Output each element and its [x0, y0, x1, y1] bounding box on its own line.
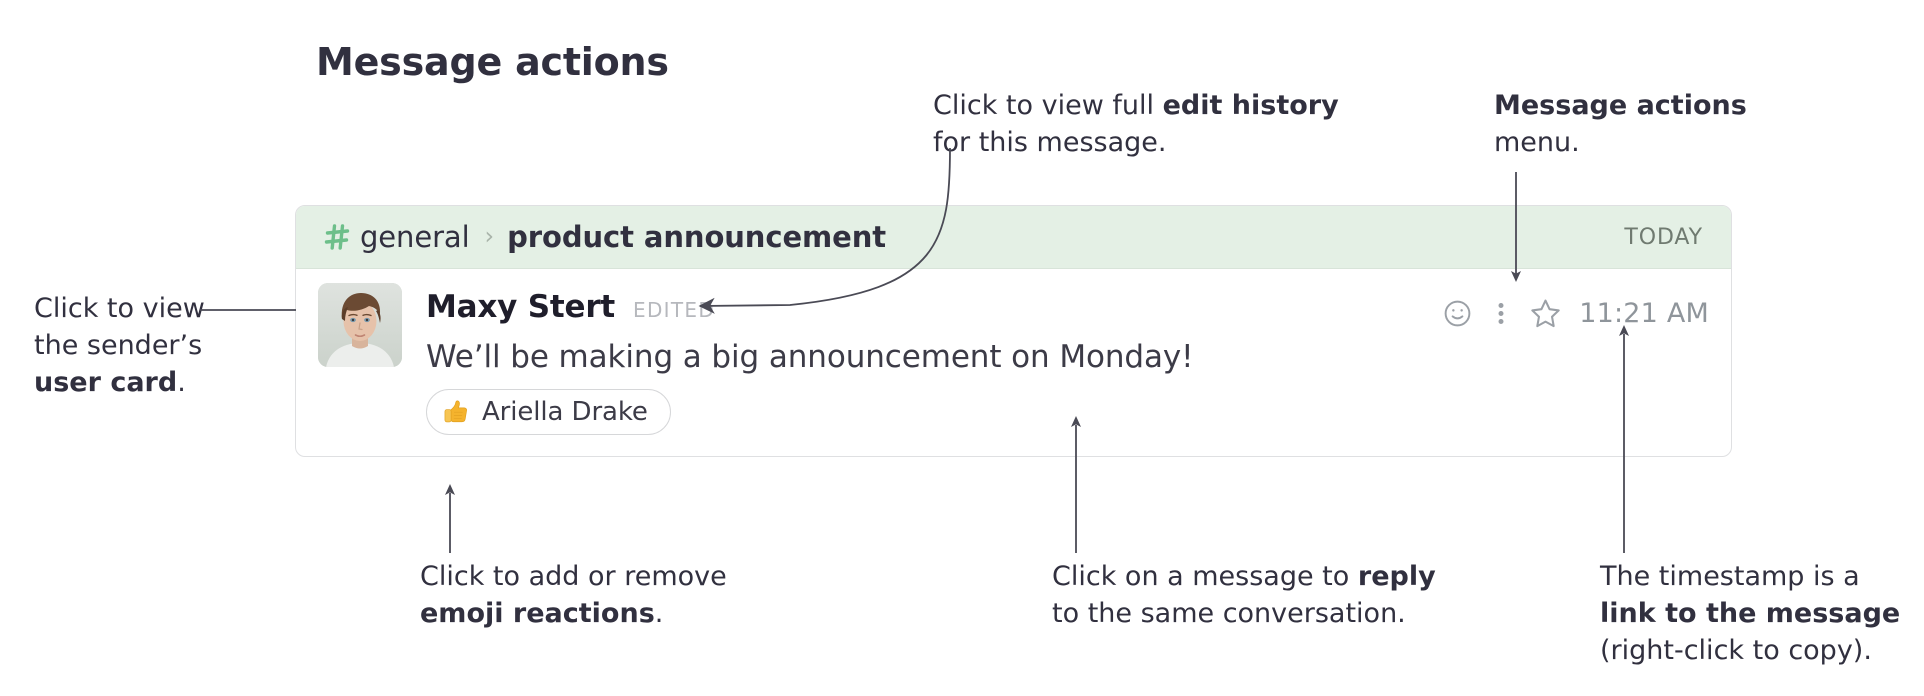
- message-card: general › product announcement TODAY: [295, 205, 1732, 457]
- reaction-pill[interactable]: Ariella Drake: [426, 389, 671, 435]
- message-actions-menu-icon[interactable]: [1479, 293, 1523, 333]
- avatar[interactable]: [318, 283, 402, 367]
- date-label: TODAY: [1624, 225, 1703, 250]
- annotation-edit-history-line1-bold: edit history: [1163, 90, 1339, 121]
- channel-breadcrumb-bar: general › product announcement TODAY: [296, 206, 1731, 269]
- reaction-user-name: Ariella Drake: [482, 397, 648, 427]
- annotation-user-card-bold: user card: [34, 367, 177, 398]
- message-actions-group: 11:21 AM: [1435, 293, 1709, 333]
- connector-emoji-arrowhead: [445, 484, 455, 495]
- annotation-timestamp-line3: (right-click to copy).: [1600, 635, 1872, 666]
- annotation-reply-line1-bold: reply: [1358, 561, 1436, 592]
- sender-name[interactable]: Maxy Stert: [426, 289, 615, 325]
- annotation-edit-history-line1-plain: Click to view full: [933, 90, 1163, 121]
- annotation-user-card-line2: the sender’s: [34, 330, 202, 361]
- annotation-reply-line2: to the same conversation.: [1052, 598, 1406, 629]
- message-body-region[interactable]: Maxy Stert EDITED We’ll be making a big …: [296, 269, 1731, 435]
- annotation-reply-line1-plain: Click on a message to: [1052, 561, 1358, 592]
- annotation-edit-history: Click to view full edit history for this…: [933, 87, 1363, 161]
- annotation-timestamp-line1: The timestamp is a: [1600, 561, 1860, 592]
- reactions-row: Ariella Drake: [426, 389, 1703, 435]
- annotation-user-card-line1: Click to view: [34, 293, 205, 324]
- emoji-reaction-icon[interactable]: [1435, 293, 1479, 333]
- thumbs-up-emoji: [441, 397, 471, 427]
- star-icon[interactable]: [1523, 293, 1567, 333]
- message-timestamp-link[interactable]: 11:21 AM: [1579, 298, 1709, 329]
- chevron-right-icon: ›: [485, 224, 495, 248]
- annotation-actions-menu-plain: menu.: [1494, 127, 1580, 158]
- annotation-emoji-bold: emoji reactions: [420, 598, 655, 629]
- annotation-emoji-reactions: Click to add or remove emoji reactions.: [420, 558, 780, 632]
- page-title: Message actions: [316, 40, 669, 84]
- annotation-emoji-line1: Click to add or remove: [420, 561, 727, 592]
- annotation-user-card: Click to view the sender’s user card.: [34, 290, 264, 401]
- annotation-timestamp: The timestamp is a link to the message (…: [1600, 558, 1920, 669]
- edited-badge[interactable]: EDITED: [633, 298, 715, 322]
- annotation-timestamp-bold: link to the message: [1600, 598, 1900, 629]
- annotation-actions-menu-bold: Message actions: [1494, 90, 1747, 121]
- annotation-emoji-period: .: [655, 598, 664, 629]
- message-text[interactable]: We’ll be making a big announcement on Mo…: [426, 337, 1703, 377]
- annotation-edit-history-line2: for this message.: [933, 127, 1166, 158]
- hash-icon: [322, 222, 352, 252]
- breadcrumb-topic[interactable]: product announcement: [507, 220, 886, 254]
- annotation-actions-menu: Message actions menu.: [1494, 87, 1794, 161]
- annotation-user-card-period: .: [177, 367, 186, 398]
- breadcrumb-channel[interactable]: general: [360, 220, 470, 254]
- annotation-reply: Click on a message to reply to the same …: [1052, 558, 1452, 632]
